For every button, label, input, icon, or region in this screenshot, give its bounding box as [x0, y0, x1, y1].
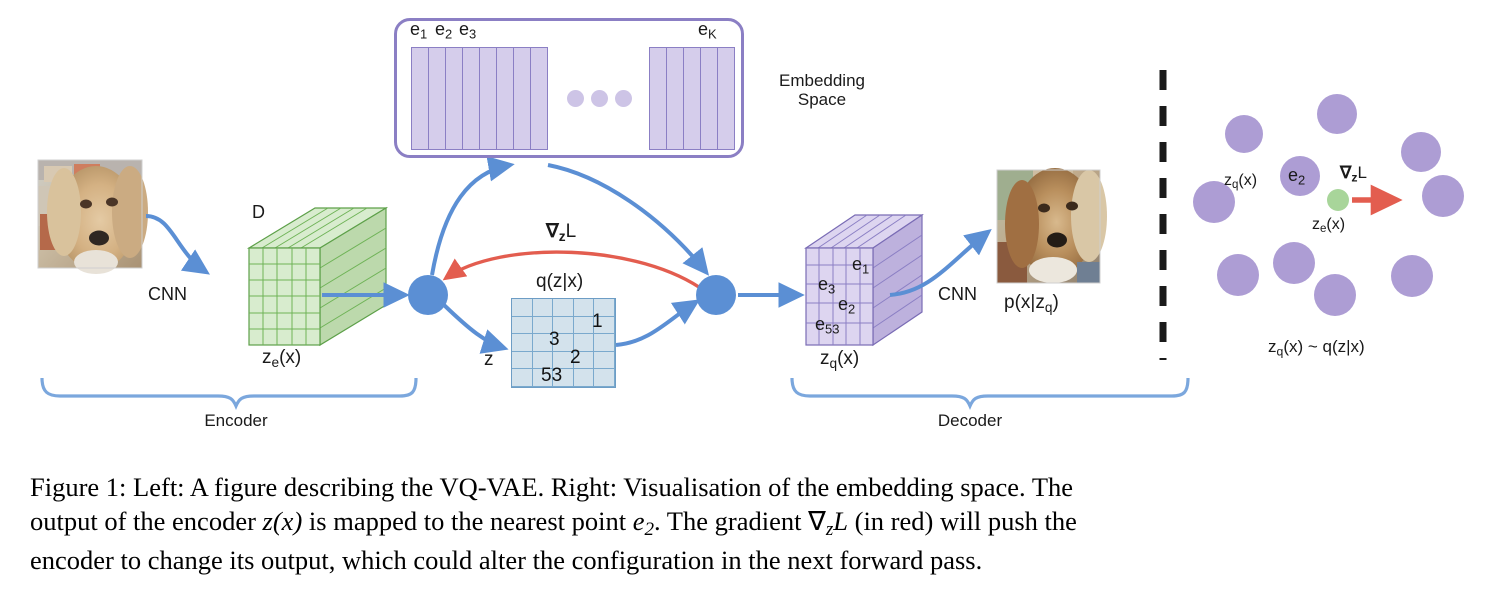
decoder-cube-label-e3: e3: [818, 275, 835, 297]
node-quantize-left: [408, 275, 448, 315]
grid-value: 1: [592, 311, 603, 333]
arrow-grid-to-node2: [616, 302, 696, 345]
caption-line-2: output of the encoder z(x) is mapped to …: [30, 504, 1460, 543]
depth-label-D: D: [252, 203, 265, 223]
brace-label-encoder: Encoder: [176, 412, 296, 431]
grid-value: 53: [541, 365, 562, 387]
right-bottom-label: zq(x) ~ q(z|x): [1268, 338, 1365, 359]
decoder-input-label: zq(x): [820, 349, 859, 371]
codebook-label-e1: e1: [410, 20, 427, 42]
codebook-group-first: [411, 47, 547, 150]
node-quantize-right: [696, 275, 736, 315]
grid-title-qzx: q(z|x): [536, 272, 583, 293]
codebook-label-e2: e2: [435, 20, 452, 42]
ellipsis-dot: [567, 90, 584, 107]
embedding-point: [1317, 94, 1357, 134]
decoder-cube-label-e2: e2: [838, 295, 855, 317]
embedding-point: [1225, 115, 1263, 153]
grid-value: 3: [549, 329, 560, 351]
decoder-cube-label-e53: e53: [815, 315, 839, 337]
grid-value: 2: [570, 347, 581, 369]
figure-caption: Figure 1: Left: A figure describing the …: [30, 470, 1460, 577]
cnn-label-encoder: CNN: [148, 285, 187, 305]
arrow-node-to-grid: [444, 305, 504, 348]
ellipsis-dot: [591, 90, 608, 107]
embedding-scatter: [1193, 94, 1464, 316]
encoder-output-point: [1327, 189, 1349, 211]
ellipsis-dot: [615, 90, 632, 107]
embedding-point: [1422, 175, 1464, 217]
input-image: [38, 160, 148, 274]
right-gradient-label: ∇zL: [1340, 164, 1367, 185]
right-e2-label: e2: [1288, 166, 1305, 188]
reconstruction-label: p(x|zq): [1004, 293, 1059, 315]
gradient-label-left: ∇zL: [546, 222, 576, 244]
embedding-point: [1314, 274, 1356, 316]
embedding-point: [1401, 132, 1441, 172]
output-image: [997, 168, 1107, 283]
embedding-point: [1391, 255, 1433, 297]
diagram-svg: [0, 0, 1488, 455]
brace-decoder: [792, 378, 1188, 406]
embedding-space-label: Embedding Space: [762, 72, 882, 109]
encoder-output-label: ze(x): [262, 348, 301, 370]
right-ze-label: ze(x): [1312, 216, 1345, 236]
brace-encoder: [42, 378, 416, 406]
figure-canvas: e1 e2 e3 eK Embedding Space CNN D ze(x) …: [0, 0, 1488, 455]
encoder-feature-cube: [249, 208, 386, 345]
decoder-cube-label-e1: e1: [852, 255, 869, 277]
brace-label-decoder: Decoder: [910, 412, 1030, 431]
arrow-codebook-to-node2: [548, 165, 706, 272]
latent-z-label: z: [484, 350, 494, 371]
codebook-label-e3: e3: [459, 20, 476, 42]
embedding-point: [1273, 242, 1315, 284]
caption-line-1: Figure 1: Left: A figure describing the …: [30, 470, 1460, 504]
embedding-point: [1217, 254, 1259, 296]
caption-line-3: encoder to change its output, which coul…: [30, 543, 1460, 577]
cnn-label-decoder: CNN: [938, 285, 977, 305]
arrow-input-to-encoder: [146, 216, 206, 272]
right-zq-label: zq(x): [1224, 172, 1257, 192]
codebook-group-last: [649, 47, 734, 150]
codebook-label-eK: eK: [698, 20, 717, 42]
